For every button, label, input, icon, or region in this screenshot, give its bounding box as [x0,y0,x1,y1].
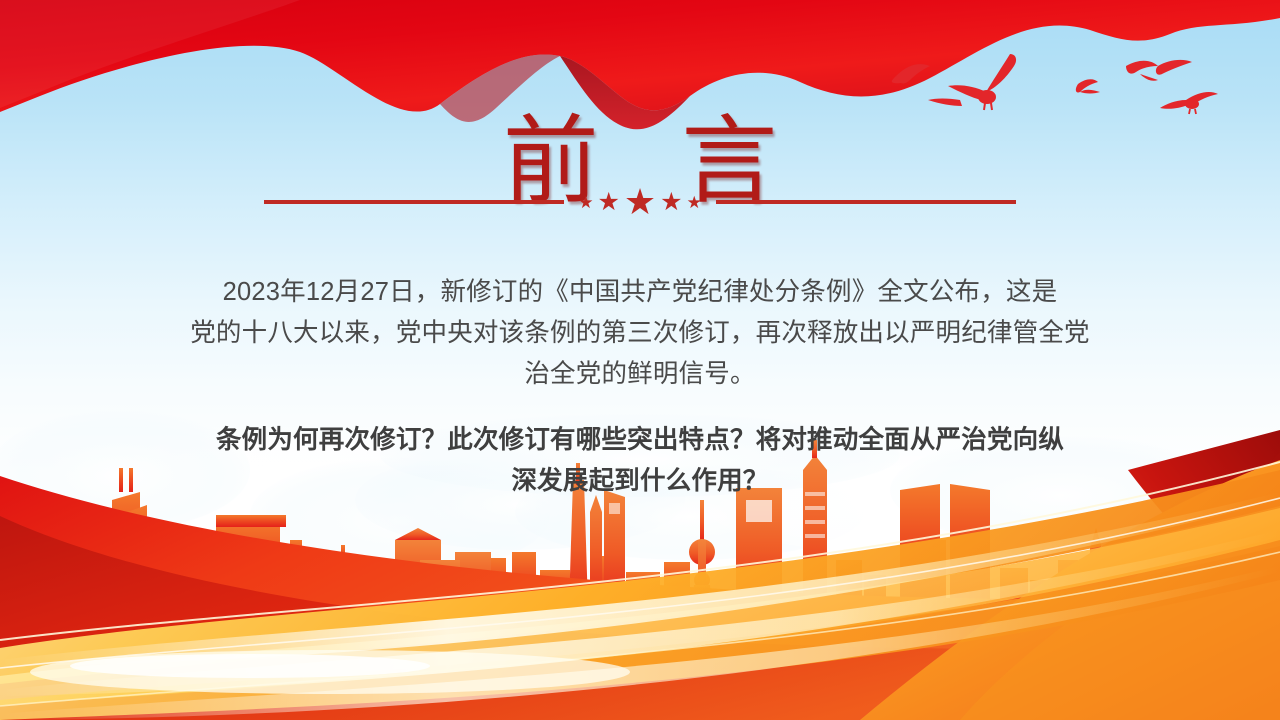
star-icon-4: ★ [660,190,682,215]
text-line: 深发展起到什么作用？ [170,461,1110,502]
paragraph-questions: 条例为何再次修订？此次修订有哪些突出特点？将对推动全面从严治党向纵 深发展起到什… [170,420,1110,502]
page-title-container: 前 言 [0,46,1280,278]
text-line: 治全党的鲜明信号。 [170,354,1110,395]
paragraph-intro: 2023年12月27日，新修订的《中国共产党纪律处分条例》全文公布，这是 党的十… [170,272,1110,395]
divider-stars: ★ ★ ★ ★ ★ [564,184,716,220]
text-line: 2023年12月27日，新修订的《中国共产党纪律处分条例》全文公布，这是 [170,272,1110,313]
body-text-block: 2023年12月27日，新修订的《中国共产党纪律处分条例》全文公布，这是 党的十… [170,246,1110,528]
star-icon-5: ★ [687,194,702,211]
text-line: 条例为何再次修订？此次修订有哪些突出特点？将对推动全面从严治党向纵 [170,420,1110,461]
divider-line-right [716,200,1016,204]
divider-line-left [264,200,564,204]
star-icon-3: ★ [624,184,656,220]
star-divider: ★ ★ ★ ★ ★ [0,186,1280,218]
star-icon-1: ★ [578,194,593,211]
slide-canvas: 前 言 ★ ★ ★ ★ ★ 2023年12月27日，新修订的《中国共产党纪律处分… [0,0,1280,720]
star-icon-2: ★ [597,190,619,215]
text-line: 党的十八大以来，党中央对该条例的第三次修订，再次释放出以严明纪律管全党 [170,313,1110,354]
